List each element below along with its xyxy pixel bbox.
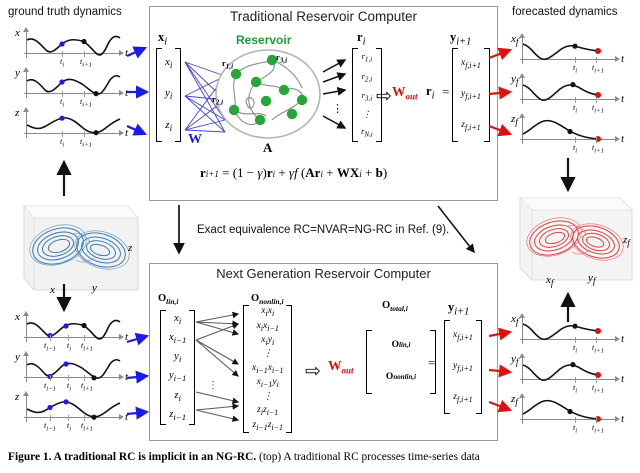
vector-cell: yi xyxy=(165,87,172,102)
vector-cell: zi xyxy=(174,390,181,403)
input-arrows-bottom xyxy=(126,316,152,432)
y-vector-label-bottom: yi+1 xyxy=(448,300,469,318)
state-equation: ri+1 = (1 − γ)ri + γf (Ari + WXi + b) xyxy=(200,165,387,181)
axis-label-y: yf xyxy=(511,73,518,87)
vector-cell: yf,i+1 xyxy=(453,361,473,373)
attractor-axis-x: xf xyxy=(546,274,553,288)
axis-label-y: y xyxy=(15,67,20,79)
vector-cell: xi−1xi−1 xyxy=(252,363,283,375)
r-vector-label: ri xyxy=(357,30,365,48)
vector-cell: ⋮ xyxy=(263,349,273,360)
timeseries-forecast-z: zf t ti ti+1 xyxy=(512,112,624,154)
vector-cell: yi xyxy=(174,351,181,364)
axis-label-y: zf xyxy=(511,393,518,407)
axis-label-y: zf xyxy=(511,113,518,127)
axis-label-y: yf xyxy=(511,353,518,367)
timeseries-forecast-y: yf t ti ti+1 xyxy=(512,72,624,114)
adjacency-label: A xyxy=(263,140,272,156)
axis-label-y: z xyxy=(15,391,19,403)
r-term-top: ri xyxy=(426,84,434,102)
vector-cell: Ononlin,i xyxy=(386,372,416,383)
hollow-arrow-icon: ⇨ xyxy=(376,85,392,108)
caption-rest: (top) A traditional RC processes time-se… xyxy=(259,451,480,463)
vector-cell: zi xyxy=(165,119,172,134)
vector-cell: zizi−1 xyxy=(257,405,278,417)
vector-cell: r1,i xyxy=(362,51,373,64)
axis-label-y: xf xyxy=(511,33,518,47)
olin-label: Olin,i xyxy=(158,293,178,306)
lorenz-attractor-forecast: xf yf zf xyxy=(506,192,640,297)
tick-label: ti+1 xyxy=(592,143,604,155)
forecasted-label: forecasted dynamics xyxy=(512,6,617,18)
tick-label: ti+1 xyxy=(81,421,93,433)
caption-bold: Figure 1. A traditional RC is implicit i… xyxy=(8,451,256,463)
y-vector-label-top: yi+1 xyxy=(450,30,471,48)
ototal-vector: Olin,i Ononlin,i xyxy=(366,330,436,394)
vector-cell: rN,i xyxy=(361,126,373,139)
input-arrows-top xyxy=(126,30,152,150)
timeseries-groundtruth-y: y t ti ti+1 xyxy=(16,66,128,108)
arrow-up-groundtruth xyxy=(56,156,72,198)
vector-cell: ⋮ xyxy=(263,392,273,403)
figure-caption: Figure 1. A traditional RC is implicit i… xyxy=(8,450,636,464)
traditional-rc-title: Traditional Reservoir Computer xyxy=(149,9,498,24)
axis-label-t: t xyxy=(621,373,624,385)
timeseries-input-x: x t ti−1 ti ti+1 xyxy=(16,310,128,352)
w-matrix-label: W xyxy=(188,132,202,148)
vector-cell: Olin,i xyxy=(392,340,411,351)
axis-label-t: t xyxy=(621,53,624,65)
timeseries-input-z: z t ti−1 ti ti+1 xyxy=(16,390,128,432)
axis-label-y: y xyxy=(15,351,20,363)
timeseries-groundtruth-z: z t ti ti+1 xyxy=(16,106,128,148)
equals-top: = xyxy=(442,84,449,100)
tick-label: ti xyxy=(573,423,577,435)
vector-cell: yf,i+1 xyxy=(461,89,481,101)
figure-canvas: Traditional Reservoir Computer Next Gene… xyxy=(0,0,640,443)
axis-label-t: t xyxy=(621,133,624,145)
nonlinear-expansion-arrows: ⋮ xyxy=(194,306,244,428)
axis-label-y: z xyxy=(15,107,19,119)
timeseries-groundtruth-x: x t ti ti+1 xyxy=(16,26,128,68)
axis-label-y: x xyxy=(15,311,20,323)
attractor-axis-y: y xyxy=(92,282,97,294)
tick-label: ti−1 xyxy=(44,421,56,433)
arrow-equivalence-diagonal xyxy=(436,204,484,262)
timeseries-forecast-bottom-x: xf t ti ti+1 xyxy=(512,312,624,354)
attractor-axis-x: x xyxy=(50,284,55,296)
arrow-down-forecast xyxy=(560,156,576,196)
equals-bottom: = xyxy=(428,355,435,371)
reservoir-label: Reservoir xyxy=(236,33,291,47)
attractor-axis-z: z xyxy=(128,242,132,254)
tick-label: ti xyxy=(60,137,64,149)
vector-cell: xixi−1 xyxy=(257,321,279,333)
vector-cell: r3,i xyxy=(362,90,373,103)
olin-vector: xi xi−1 yi yi−1 zi zi−1 xyxy=(160,310,195,425)
vector-cell: xi−1 xyxy=(169,332,186,345)
reservoir-output-arrows: ⋮ xyxy=(322,54,352,138)
vector-cell: yi−1 xyxy=(169,370,186,383)
axis-label-t: t xyxy=(621,333,624,345)
timeseries-forecast-x: xf t ti ti+1 xyxy=(512,32,624,74)
vector-cell: xi−1yi xyxy=(257,377,279,389)
attractor-axis-z: zf xyxy=(623,234,630,248)
tick-label: ti+1 xyxy=(80,137,92,149)
attractor-axis-y: yf xyxy=(588,272,595,286)
axis-label-t: t xyxy=(621,93,624,105)
vector-cell: xf,i+1 xyxy=(461,58,481,70)
y-vector-bottom: xf,i+1 yf,i+1 zf,i+1 xyxy=(444,320,482,414)
vector-cell: ⋮ xyxy=(363,109,372,119)
timeseries-forecast-bottom-z: zf t ti ti+1 xyxy=(512,392,624,434)
timeseries-forecast-bottom-y: yf t ti ti+1 xyxy=(512,352,624,394)
vector-cell: r2,i xyxy=(362,71,373,84)
node-label-r2: r2,i xyxy=(212,94,223,107)
vector-cell: xi xyxy=(174,313,181,326)
axis-label-t: t xyxy=(621,413,624,425)
hollow-arrow-icon-bottom: ⇨ xyxy=(305,360,321,383)
ototal-label: Ototal,i xyxy=(382,300,408,313)
input-vector: xi yi zi xyxy=(156,48,181,142)
input-vector-label: xi xyxy=(158,30,167,48)
svg-text:⋮: ⋮ xyxy=(332,103,343,115)
y-vector-top: xf,i+1 yf,i+1 zf,i+1 xyxy=(452,48,490,142)
tick-label: ti+1 xyxy=(592,423,604,435)
node-label-r1: r1,i xyxy=(222,58,233,71)
wout-label-top: Wout xyxy=(392,84,418,102)
axis-label-y: x xyxy=(15,27,20,39)
vector-cell: zf,i+1 xyxy=(461,120,480,132)
vector-cell: xixi xyxy=(261,306,274,318)
tick-label: ti xyxy=(573,143,577,155)
svg-text:⋮: ⋮ xyxy=(208,380,218,391)
ononlin-vector: xixi xixi−1 xiyi ⋮ xi−1xi−1 xi−1yi ⋮ ziz… xyxy=(243,305,292,433)
ground-truth-label: ground truth dynamics xyxy=(8,6,122,18)
equivalence-note: Exact equivalence RC=NVAR=NG-RC in Ref. … xyxy=(197,224,449,236)
vector-cell: xiyi xyxy=(261,335,274,347)
axis-label-y: xf xyxy=(511,313,518,327)
timeseries-input-y: y t ti−1 ti ti+1 xyxy=(16,350,128,392)
ngrc-title: Next Generation Reservoir Computer xyxy=(149,266,498,281)
node-label-r3: r3,i xyxy=(276,52,287,65)
vector-cell: xi xyxy=(165,56,172,71)
wout-label-bottom: Wout xyxy=(328,358,354,376)
lorenz-attractor-groundtruth: x y z xyxy=(6,198,146,307)
vector-cell: zi−1 xyxy=(169,409,186,422)
vector-cell: zf,i+1 xyxy=(453,392,472,404)
tick-label: ti xyxy=(67,421,71,433)
vector-cell: zi−1zi−1 xyxy=(253,420,283,432)
arrow-equivalence-down xyxy=(168,203,190,261)
vector-cell: xf,i+1 xyxy=(453,330,473,342)
